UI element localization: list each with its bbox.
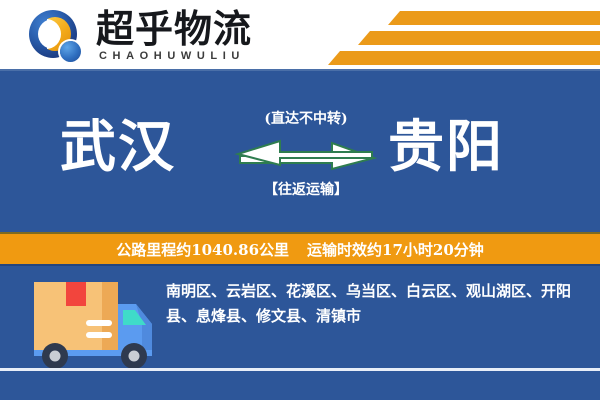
roundtrip-note: 【往返运输】 [232, 180, 380, 200]
route-section: 武汉 (直达不中转) 【往返运输】 贵阳 [0, 71, 600, 232]
brand-name-cn: 超乎物流 [96, 8, 252, 50]
route-info-bar: 公路里程约1040.86公里 运输时效约17小时20分钟 [0, 232, 600, 266]
route-middle: (直达不中转) 【往返运输】 [232, 109, 380, 219]
direct-note: (直达不中转) [232, 109, 380, 129]
destination-city: 贵阳 [388, 111, 504, 183]
banner-header: 超乎物流 CHAOHUWULIU [0, 0, 600, 71]
header-stripe-2 [358, 31, 600, 45]
header-stripe-1 [388, 11, 600, 25]
logistics-route-banner: 超乎物流 CHAOHUWULIU 武汉 (直达不中转) 【往返运输】 贵阳 公 [0, 0, 600, 400]
origin-city: 武汉 [60, 111, 176, 183]
logo-accent-dot [60, 41, 81, 62]
distance-text: 公路里程约1040.86公里 [116, 239, 289, 260]
coverage-districts: 南明区、云岩区、花溪区、乌当区、白云区、观山湖区、开阳县、息烽县、修文县、清镇市 [166, 279, 586, 329]
bidirectional-arrow-icon [232, 132, 380, 172]
ground-line [0, 368, 600, 371]
header-stripe-3 [328, 51, 600, 65]
brand-name-en: CHAOHUWULIU [99, 50, 245, 63]
coverage-section: 南明区、云岩区、花溪区、乌当区、白云区、观山湖区、开阳县、息烽县、修文县、清镇市 [0, 266, 600, 400]
circle-crescent-logo-icon [27, 10, 89, 65]
delivery-truck-icon [24, 268, 164, 372]
duration-text: 运输时效约17小时20分钟 [307, 239, 484, 260]
